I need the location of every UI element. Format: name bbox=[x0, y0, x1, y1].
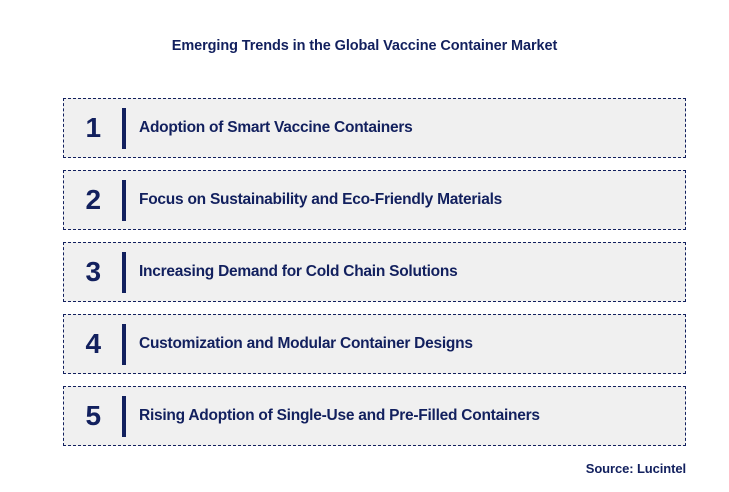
trend-label: Customization and Modular Container Desi… bbox=[139, 335, 685, 353]
vertical-divider-icon bbox=[122, 252, 126, 293]
trend-number: 4 bbox=[64, 330, 122, 358]
list-item: 1 Adoption of Smart Vaccine Containers bbox=[63, 98, 686, 158]
page-title: Emerging Trends in the Global Vaccine Co… bbox=[0, 38, 729, 54]
trend-number: 1 bbox=[64, 114, 122, 142]
trend-number: 3 bbox=[64, 258, 122, 286]
list-item: 5 Rising Adoption of Single-Use and Pre-… bbox=[63, 386, 686, 446]
list-item: 2 Focus on Sustainability and Eco-Friend… bbox=[63, 170, 686, 230]
list-item: 4 Customization and Modular Container De… bbox=[63, 314, 686, 374]
vertical-divider-icon bbox=[122, 180, 126, 221]
infographic-canvas: Emerging Trends in the Global Vaccine Co… bbox=[0, 0, 729, 492]
vertical-divider-icon bbox=[122, 396, 126, 437]
trend-label: Focus on Sustainability and Eco-Friendly… bbox=[139, 191, 685, 209]
source-attribution: Source: Lucintel bbox=[0, 461, 686, 476]
vertical-divider-icon bbox=[122, 324, 126, 365]
trend-number: 5 bbox=[64, 402, 122, 430]
trend-number: 2 bbox=[64, 186, 122, 214]
vertical-divider-icon bbox=[122, 108, 126, 149]
trend-label: Rising Adoption of Single-Use and Pre-Fi… bbox=[139, 407, 685, 425]
trend-label: Adoption of Smart Vaccine Containers bbox=[139, 119, 685, 137]
trend-list: 1 Adoption of Smart Vaccine Containers 2… bbox=[63, 98, 686, 446]
trend-label: Increasing Demand for Cold Chain Solutio… bbox=[139, 263, 685, 281]
list-item: 3 Increasing Demand for Cold Chain Solut… bbox=[63, 242, 686, 302]
